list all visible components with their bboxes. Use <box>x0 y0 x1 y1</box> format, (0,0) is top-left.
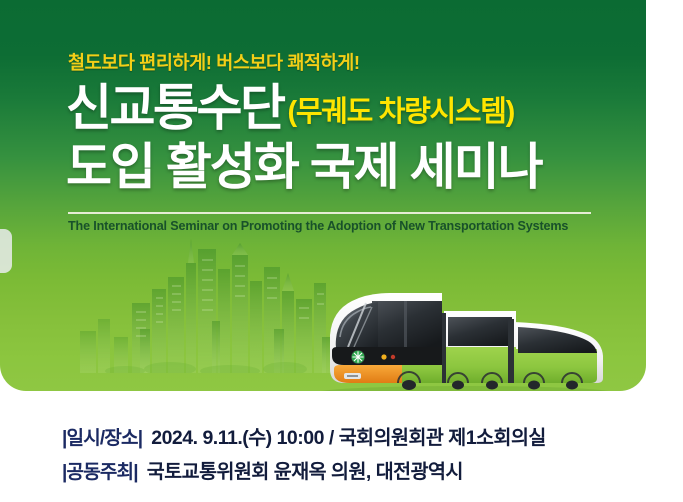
poster-title-main: 신교통수단 <box>66 80 284 136</box>
seminar-poster: 철도보다 편리하게! 버스보다 쾌적하게! 신교통수단(무궤도 차량시스템) 도… <box>0 0 683 502</box>
poster-subtitle-english: The International Seminar on Promoting t… <box>68 219 568 233</box>
info-value-cohosts: 국토교통위원회 윤재옥 의원, 대전광역시 <box>147 461 463 483</box>
hero-green-panel: 철도보다 편리하게! 버스보다 쾌적하게! 신교통수단(무궤도 차량시스템) 도… <box>0 0 646 391</box>
info-row-cohosts: |공동주최|국토교통위원회 윤재옥 의원, 대전광역시 <box>62 455 463 484</box>
poster-tagline: 철도보다 편리하게! 버스보다 쾌적하게! <box>68 49 360 75</box>
left-edge-notch <box>0 229 12 273</box>
trackless-tram-vehicle-illustration <box>300 277 646 391</box>
info-row-datetime-venue: |일시/장소|2024. 9.11.(수) 10:00 / 국회의원회관 제1소… <box>62 421 546 450</box>
poster-title-line1: 신교통수단(무궤도 차량시스템) <box>66 83 514 133</box>
poster-title-line2: 도입 활성화 국제 세미나 <box>66 142 542 192</box>
info-value-datetime-venue: 2024. 9.11.(수) 10:00 / 국회의원회관 제1소회의실 <box>151 427 546 449</box>
info-label-cohosts: |공동주최| <box>62 462 138 483</box>
poster-title-parenthetical: (무궤도 차량시스템) <box>288 96 515 128</box>
info-label-datetime-venue: |일시/장소| <box>62 428 142 449</box>
title-divider-rule <box>68 212 591 214</box>
